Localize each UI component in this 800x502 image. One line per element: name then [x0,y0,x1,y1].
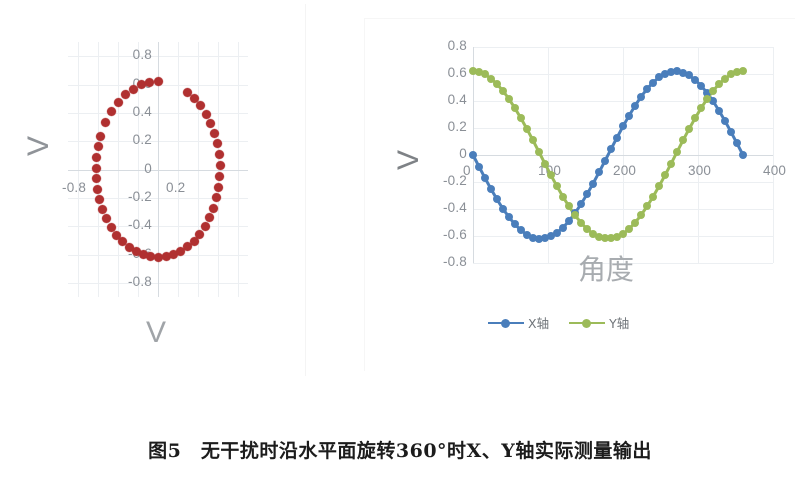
left-chart-data-point [129,85,138,94]
left-chart-data-point [93,185,102,194]
right-chart-y-tick-label: -0.2 [421,173,467,188]
left-chart-data-point [213,139,222,148]
right-chart-point-x-axis [625,112,633,120]
right-chart-point-y-axis [505,95,513,103]
left-chart-y-tick-label: 0 [106,161,152,176]
right-chart-point-y-axis [649,193,657,201]
left-chart-data-point [216,161,225,170]
right-chart-point-x-axis [715,107,723,115]
right-chart-point-y-axis [673,148,681,156]
right-chart-point-y-axis [499,87,507,95]
legend-item-y-axis[interactable]: Y轴 [569,313,629,332]
figure-root: V V 0.80.60.40.20-0.2-0.4-0.6-0.8-0.80.2… [0,0,800,502]
right-chart-point-x-axis [601,157,609,165]
right-chart-point-y-axis [667,160,675,168]
left-chart-data-point [96,132,105,141]
left-chart-y-tick-label: 0.8 [106,47,152,62]
right-chart-legend: X轴 Y轴 [488,313,629,332]
left-chart-data-point [201,222,210,231]
right-chart-point-y-axis [703,95,711,103]
left-chart-y-tick-label: -0.2 [106,189,152,204]
legend-marker-y-axis [569,318,605,328]
left-chart-data-point [210,129,219,138]
right-chart-point-x-axis [559,224,567,232]
right-chart-point-x-axis [637,93,645,101]
right-chart-point-x-axis [487,185,495,193]
left-chart-y-tick-label: -0.8 [106,274,152,289]
right-chart-x-tick-label: 0 [463,163,471,178]
legend-item-x-axis[interactable]: X轴 [488,313,549,332]
right-chart-point-x-axis [631,102,639,110]
right-chart-y-tick-label: 0 [421,146,467,161]
right-chart-point-x-axis [697,82,705,90]
left-chart-data-point [107,107,116,116]
left-chart-panel: V V 0.80.60.40.20-0.2-0.4-0.6-0.8-0.80.2 [6,4,306,376]
left-chart-data-point [214,183,223,192]
right-chart-y-tick-label: 0.4 [421,92,467,107]
right-chart-x-axis-line [473,155,773,156]
right-chart-point-x-axis [475,163,483,171]
right-chart-gridline-vertical [773,47,774,263]
left-chart-x-tick-label: -0.8 [62,180,86,195]
left-chart-x-tick-label: 0.2 [166,180,185,195]
right-chart-point-x-axis [499,205,507,213]
left-chart-data-point [206,119,215,128]
right-chart-point-x-axis [721,117,729,125]
right-chart-x-axis-title: 角度 [578,248,634,288]
right-chart-y-axis-title: V [392,150,426,170]
left-chart-data-point [209,204,218,213]
right-chart-x-tick-label: 300 [688,163,711,178]
right-chart-point-y-axis [559,193,567,201]
right-chart-y-tick-label: -0.8 [421,254,467,269]
legend-marker-x-axis [488,318,524,328]
right-chart-x-tick-label: 400 [763,163,786,178]
left-chart-data-point [202,110,211,119]
left-chart-data-point [94,142,103,151]
left-chart-y-tick-label: 0.2 [106,132,152,147]
left-chart-x-axis-title: V [146,316,166,350]
right-chart-point-y-axis [709,87,717,95]
right-chart-point-x-axis [589,180,597,188]
right-chart-y-tick-label: 0.6 [421,65,467,80]
figure-caption: 图5 无干扰时沿水平面旋转360°时X、Y轴实际测量输出 [0,436,800,463]
right-chart-y-tick-label: 0.8 [421,38,467,53]
left-chart-data-point [215,150,224,159]
left-chart-data-point [92,153,101,162]
left-chart-data-point [154,77,163,86]
left-chart-data-point [114,98,123,107]
right-chart-x-tick-label: 200 [613,163,636,178]
right-chart-y-tick-label: -0.6 [421,227,467,242]
right-chart-point-x-axis [727,128,735,136]
right-chart-y-tick-label: 0.2 [421,119,467,134]
left-chart-data-point [92,164,101,173]
right-chart-y-tick-label: -0.4 [421,200,467,215]
right-chart-point-y-axis [631,219,639,227]
right-chart-point-y-axis [541,160,549,168]
right-chart-point-x-axis [739,151,747,159]
right-chart-point-y-axis [535,148,543,156]
left-chart-y-axis-title: V [22,136,56,156]
left-chart-data-point [101,118,110,127]
right-chart-point-x-axis [469,151,477,159]
right-chart-point-x-axis [613,134,621,142]
left-chart-data-point [190,94,199,103]
legend-label-x-axis: X轴 [528,313,549,332]
legend-label-y-axis: Y轴 [609,313,629,332]
